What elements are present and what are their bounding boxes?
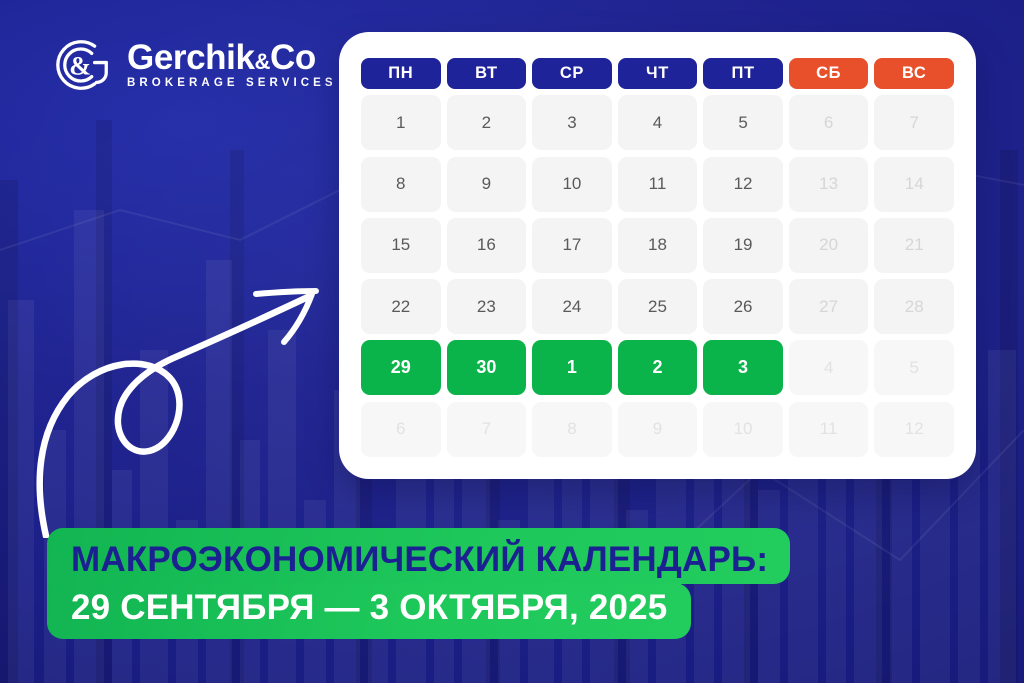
calendar-day[interactable]: 8 (532, 402, 612, 457)
calendar-day[interactable]: 16 (447, 218, 527, 273)
calendar-day[interactable]: 11 (618, 157, 698, 212)
calendar-day[interactable]: 10 (703, 402, 783, 457)
gerchik-circle-monogram-icon: & (52, 34, 114, 96)
calendar-day[interactable]: 10 (532, 157, 612, 212)
calendar-day[interactable]: 3 (532, 95, 612, 150)
brand-wordmark: Gerchik&Co BROKERAGE SERVICES (127, 40, 337, 90)
calendar-day[interactable]: 17 (532, 218, 612, 273)
calendar-day-active[interactable]: 30 (447, 340, 527, 395)
calendar-day[interactable]: 22 (361, 279, 441, 334)
calendar-day[interactable]: 26 (703, 279, 783, 334)
brand-logo[interactable]: & Gerchik&Co BROKERAGE SERVICES (52, 34, 337, 96)
calendar-day[interactable]: 9 (618, 402, 698, 457)
calendar-day[interactable]: 11 (789, 402, 869, 457)
calendar-day[interactable]: 27 (789, 279, 869, 334)
title-banner: МАКРОЭКОНОМИЧЕСКИЙ КАЛЕНДАРЬ: 29 СЕНТЯБР… (47, 528, 790, 639)
brand-name-main: Gerchik (127, 38, 255, 77)
poster-canvas: & Gerchik&Co BROKERAGE SERVICES ПНВТСРЧТ… (0, 0, 1024, 683)
weekday-header-3: ЧТ (618, 58, 698, 89)
calendar-grid: ПНВТСРЧТПТСБВС12345678910111213141516171… (361, 58, 954, 457)
calendar-day[interactable]: 12 (703, 157, 783, 212)
calendar-day[interactable]: 28 (874, 279, 954, 334)
calendar-day[interactable]: 7 (874, 95, 954, 150)
brand-tagline: BROKERAGE SERVICES (127, 78, 337, 90)
calendar-day[interactable]: 4 (789, 340, 869, 395)
weekday-header-6: ВС (874, 58, 954, 89)
calendar-card: ПНВТСРЧТПТСБВС12345678910111213141516171… (339, 32, 976, 479)
calendar-day[interactable]: 20 (789, 218, 869, 273)
calendar-day-active[interactable]: 1 (532, 340, 612, 395)
title-line-2: 29 СЕНТЯБРЯ — 3 ОКТЯБРЯ, 2025 (71, 590, 667, 625)
calendar-day[interactable]: 23 (447, 279, 527, 334)
brand-name-suffix: Co (270, 38, 316, 77)
calendar-day[interactable]: 8 (361, 157, 441, 212)
calendar-day[interactable]: 24 (532, 279, 612, 334)
calendar-day[interactable]: 14 (874, 157, 954, 212)
calendar-day[interactable]: 6 (789, 95, 869, 150)
calendar-day-active[interactable]: 2 (618, 340, 698, 395)
calendar-day[interactable]: 13 (789, 157, 869, 212)
calendar-day-active[interactable]: 29 (361, 340, 441, 395)
weekday-header-1: ВТ (447, 58, 527, 89)
title-banner-row-1: МАКРОЭКОНОМИЧЕСКИЙ КАЛЕНДАРЬ: (47, 528, 790, 584)
calendar-day[interactable]: 25 (618, 279, 698, 334)
calendar-day[interactable]: 6 (361, 402, 441, 457)
calendar-day[interactable]: 18 (618, 218, 698, 273)
brand-name: Gerchik&Co (127, 40, 337, 75)
brand-name-ampersand: & (255, 49, 271, 74)
calendar-day[interactable]: 12 (874, 402, 954, 457)
calendar-day[interactable]: 19 (703, 218, 783, 273)
title-line-1: МАКРОЭКОНОМИЧЕСКИЙ КАЛЕНДАРЬ: (71, 542, 768, 577)
calendar-day[interactable]: 7 (447, 402, 527, 457)
calendar-day[interactable]: 4 (618, 95, 698, 150)
calendar-day[interactable]: 5 (874, 340, 954, 395)
calendar-day[interactable]: 2 (447, 95, 527, 150)
svg-text:&: & (69, 52, 91, 81)
calendar-day-active[interactable]: 3 (703, 340, 783, 395)
weekday-header-2: СР (532, 58, 612, 89)
calendar-day[interactable]: 21 (874, 218, 954, 273)
calendar-day[interactable]: 1 (361, 95, 441, 150)
calendar-day[interactable]: 15 (361, 218, 441, 273)
weekday-header-0: ПН (361, 58, 441, 89)
weekday-header-4: ПТ (703, 58, 783, 89)
title-banner-row-2: 29 СЕНТЯБРЯ — 3 ОКТЯБРЯ, 2025 (47, 583, 691, 639)
weekday-header-5: СБ (789, 58, 869, 89)
calendar-day[interactable]: 5 (703, 95, 783, 150)
calendar-day[interactable]: 9 (447, 157, 527, 212)
